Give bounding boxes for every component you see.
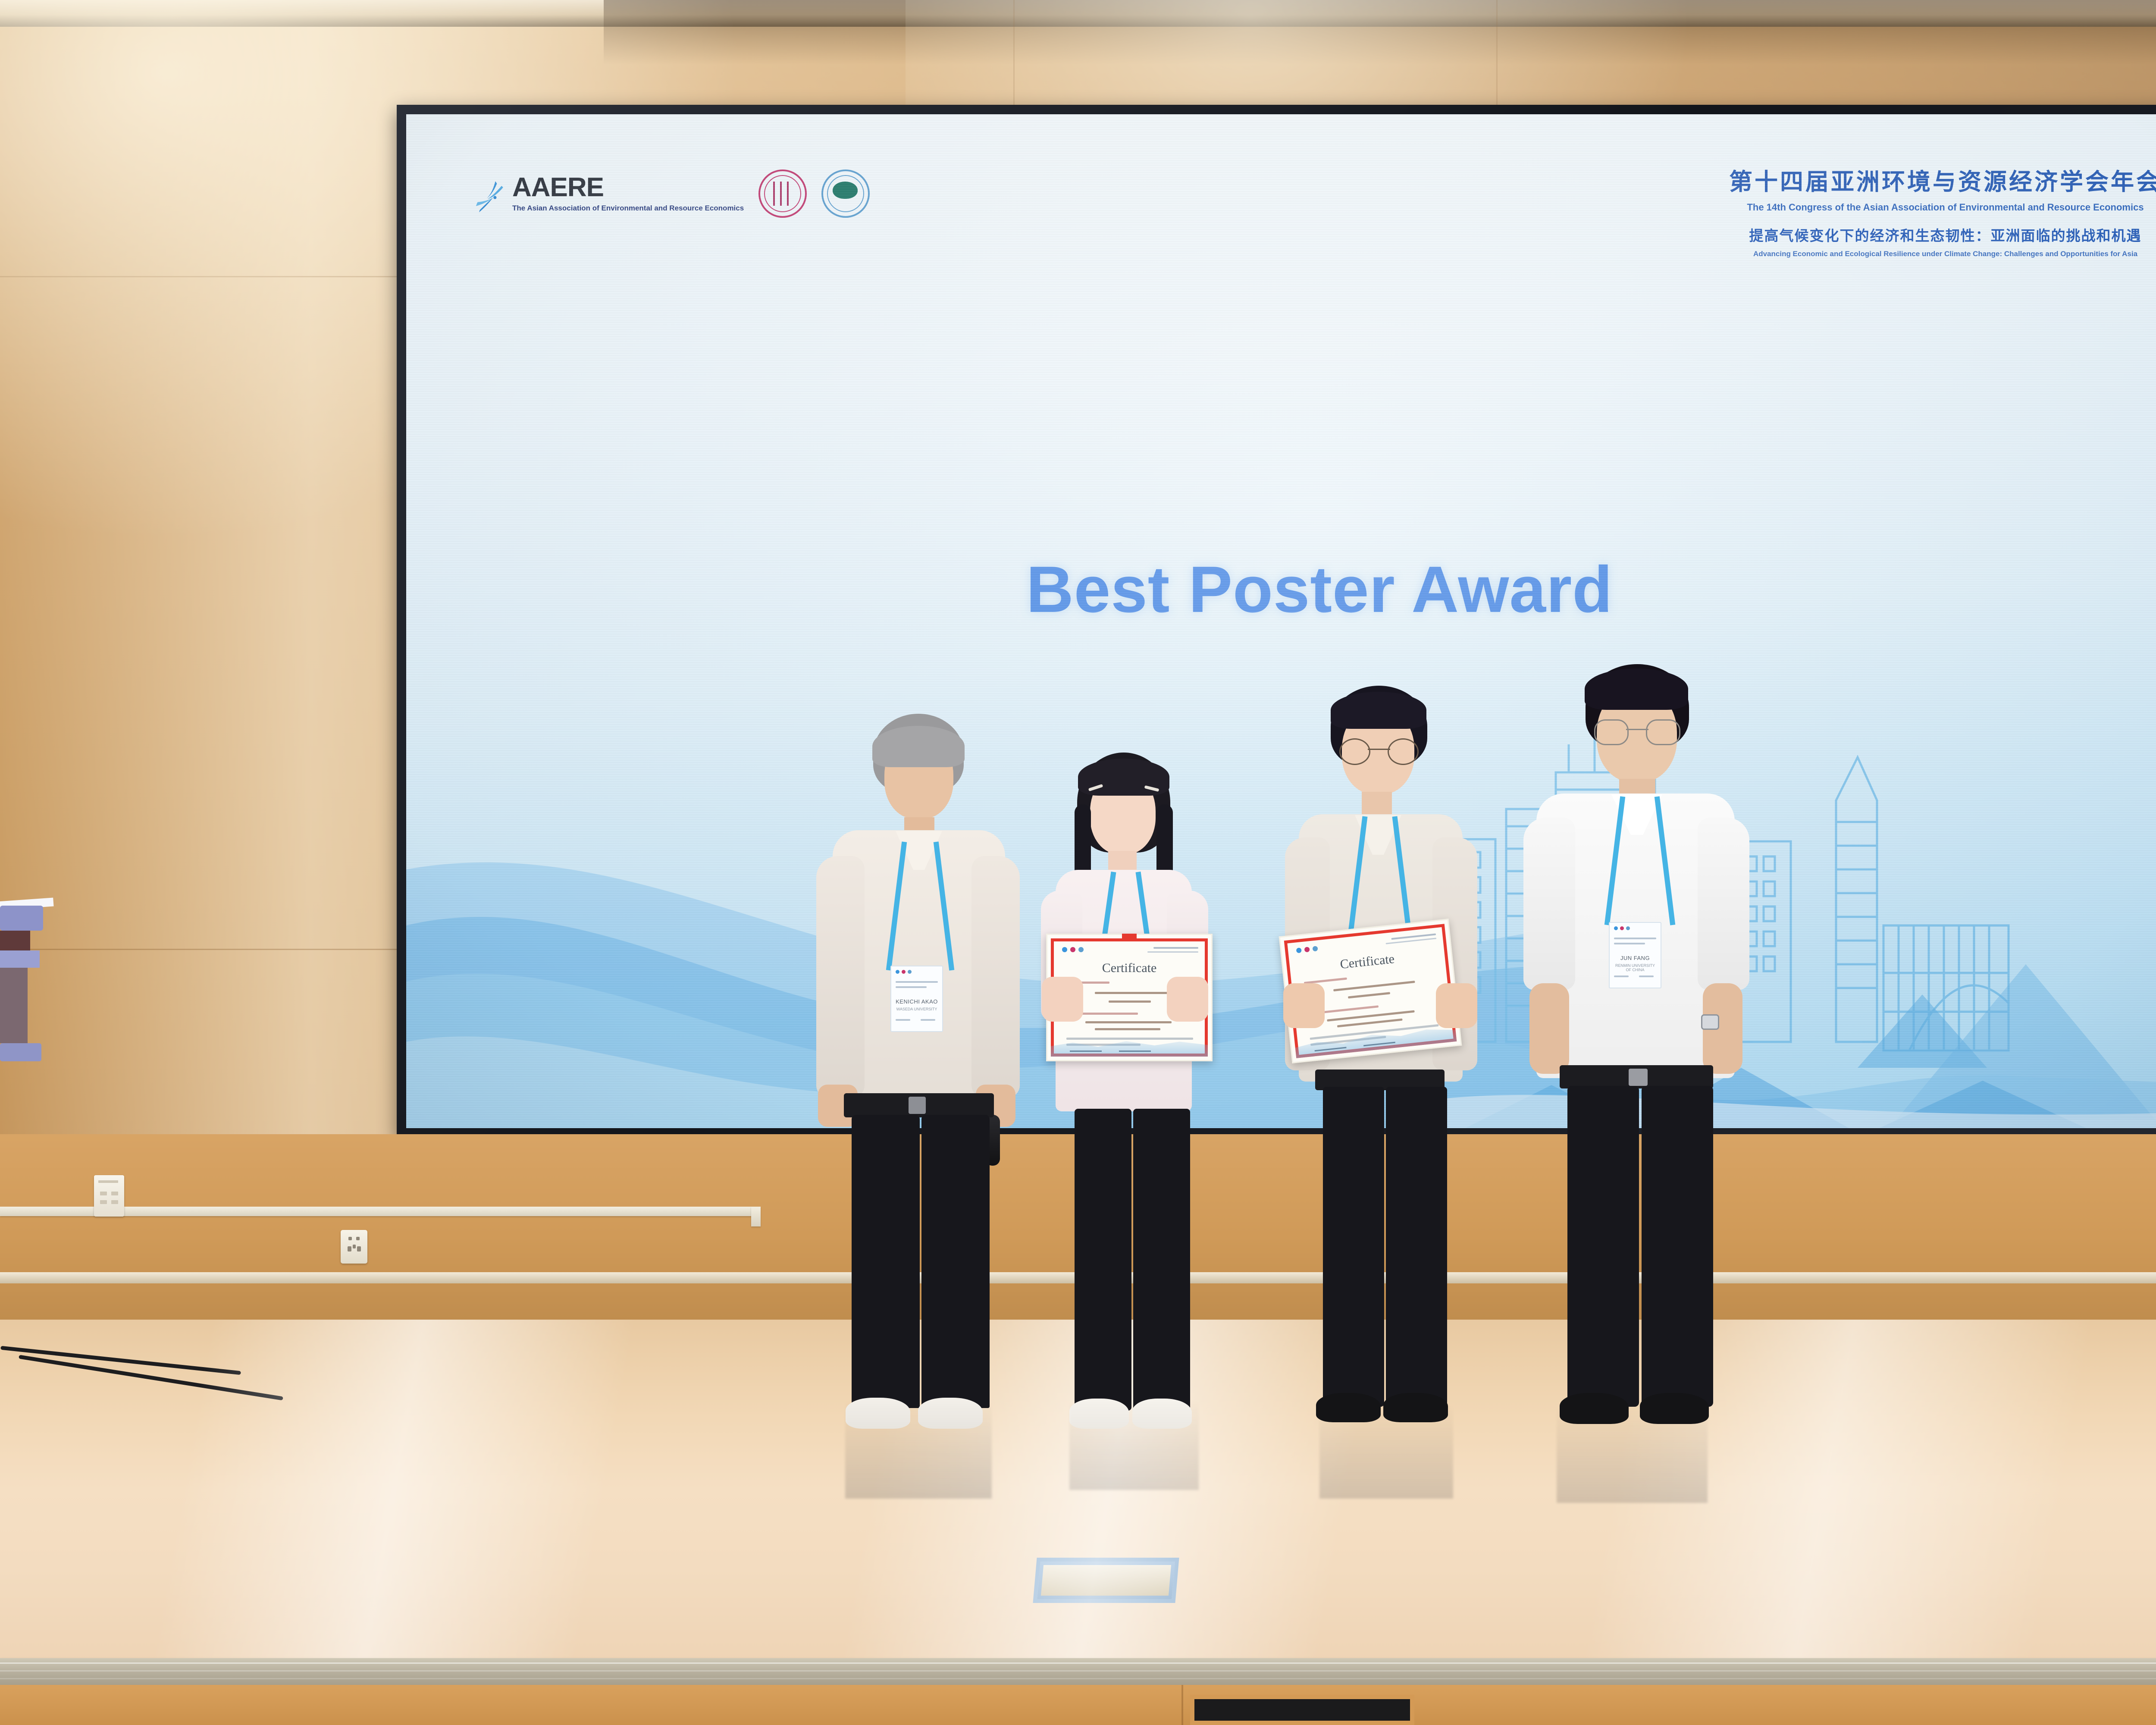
wall-switch-plate[interactable] — [94, 1175, 124, 1217]
neck — [1362, 792, 1392, 818]
arm-left — [816, 856, 865, 1098]
partner-university-seal — [821, 169, 870, 218]
certificate-title: Certificate — [1047, 961, 1211, 975]
cart-body — [0, 968, 28, 1043]
hand-left — [1283, 983, 1325, 1028]
stage-apron — [0, 1685, 2156, 1725]
leg-left — [852, 1115, 920, 1408]
led-screen: AAERE The Asian Association of Environme… — [406, 114, 2156, 1128]
slide-logo-row: AAERE The Asian Association of Environme… — [471, 169, 870, 218]
aaere-logo: AAERE The Asian Association of Environme… — [471, 174, 744, 213]
led-screen-bezel: AAERE The Asian Association of Environme… — [397, 105, 2156, 1138]
shoe-left — [1560, 1393, 1629, 1424]
wristwatch — [1701, 1014, 1719, 1030]
aaere-leaf-icon — [471, 174, 511, 213]
hair-fringe — [1585, 668, 1688, 710]
glasses-icon — [1594, 719, 1680, 744]
aaere-wordmark: AAERE — [512, 174, 744, 201]
hand-right — [1167, 977, 1208, 1022]
name-badge: KENICHI AKAO WASEDA UNIVERSITY — [890, 966, 943, 1032]
hand-right — [1436, 983, 1477, 1028]
shoe-right — [918, 1398, 983, 1429]
person-presenter-left: KENICHI AKAO WASEDA UNIVERSITY — [804, 714, 1028, 1412]
badge-org: WASEDA UNIVERSITY — [895, 1007, 939, 1011]
leg-right — [921, 1115, 990, 1408]
aaere-subtitle: The Asian Association of Environmental a… — [512, 204, 744, 213]
forearm-left — [1529, 983, 1569, 1074]
badge-name: KENICHI AKAO — [895, 998, 939, 1005]
conference-theme-en: Advancing Economic and Ecological Resili… — [1729, 250, 2156, 258]
cable-trunking — [751, 1207, 761, 1226]
cart-band — [0, 950, 40, 968]
ceiling-shadow — [604, 0, 2156, 65]
person-awardee-female: Certificate — [1044, 753, 1229, 1412]
leg-left — [1567, 1086, 1639, 1407]
apron-seam — [1181, 1685, 1183, 1725]
stage-apron-vent — [1190, 1695, 1414, 1725]
leg-right — [1386, 1087, 1447, 1407]
stage-edge — [0, 1658, 2156, 1685]
arm-right — [1698, 818, 1749, 990]
glasses-icon — [1339, 738, 1419, 763]
badge-logos — [1614, 926, 1630, 930]
conference-title-en: The 14th Congress of the Asian Associati… — [1729, 202, 2156, 213]
badge-org: RENMIN UNIVERSITY OF CHINA — [1613, 963, 1657, 972]
person-presenter-right: JUN FANG RENMIN UNIVERSITY OF CHINA — [1520, 664, 1753, 1406]
ceremony-photo: AAERE The Asian Association of Environme… — [0, 0, 2156, 1725]
conference-title-cn: 第十四届亚洲环境与资源经济学会年会 — [1729, 163, 2156, 197]
cart-top — [0, 906, 43, 931]
person-awardee-male: Certificate — [1289, 686, 1488, 1406]
conference-theme-cn: 提高气候变化下的经济和生态韧性：亚洲面临的挑战和机遇 — [1729, 224, 2156, 245]
leg-left — [1075, 1109, 1131, 1411]
shoe-right — [1640, 1393, 1709, 1424]
arm-left — [1523, 818, 1575, 990]
conference-title-block: 第十四届亚洲环境与资源经济学会年会 The 14th Congress of t… — [1729, 163, 2156, 258]
shoe-right — [1132, 1399, 1192, 1429]
certificate-tab — [1122, 934, 1137, 940]
badge-name: JUN FANG — [1613, 955, 1657, 961]
belt-buckle — [909, 1097, 926, 1114]
power-outlet[interactable] — [341, 1230, 367, 1264]
cart-base — [0, 1043, 41, 1061]
equipment-cart[interactable] — [0, 906, 45, 1138]
certificate-logos — [1062, 947, 1084, 952]
shoe-left — [846, 1398, 910, 1429]
name-badge: JUN FANG RENMIN UNIVERSITY OF CHINA — [1609, 922, 1661, 988]
cart-shelf — [0, 931, 30, 950]
shoe-left — [1316, 1393, 1381, 1422]
floor-service-box[interactable] — [1033, 1558, 1179, 1603]
leg-left — [1323, 1087, 1384, 1407]
belt-buckle — [1629, 1069, 1648, 1086]
leg-right — [1642, 1086, 1713, 1407]
hair-fringe — [872, 726, 965, 767]
arm-right — [971, 856, 1020, 1098]
hair-fringe — [1331, 692, 1426, 729]
slide-headline: Best Poster Award — [406, 552, 2156, 627]
renmin-university-seal — [758, 169, 807, 218]
leg-right — [1133, 1109, 1190, 1411]
shoe-right — [1383, 1393, 1448, 1422]
shoe-left — [1069, 1399, 1129, 1429]
badge-logos — [896, 970, 912, 974]
hand-left — [1042, 977, 1083, 1022]
